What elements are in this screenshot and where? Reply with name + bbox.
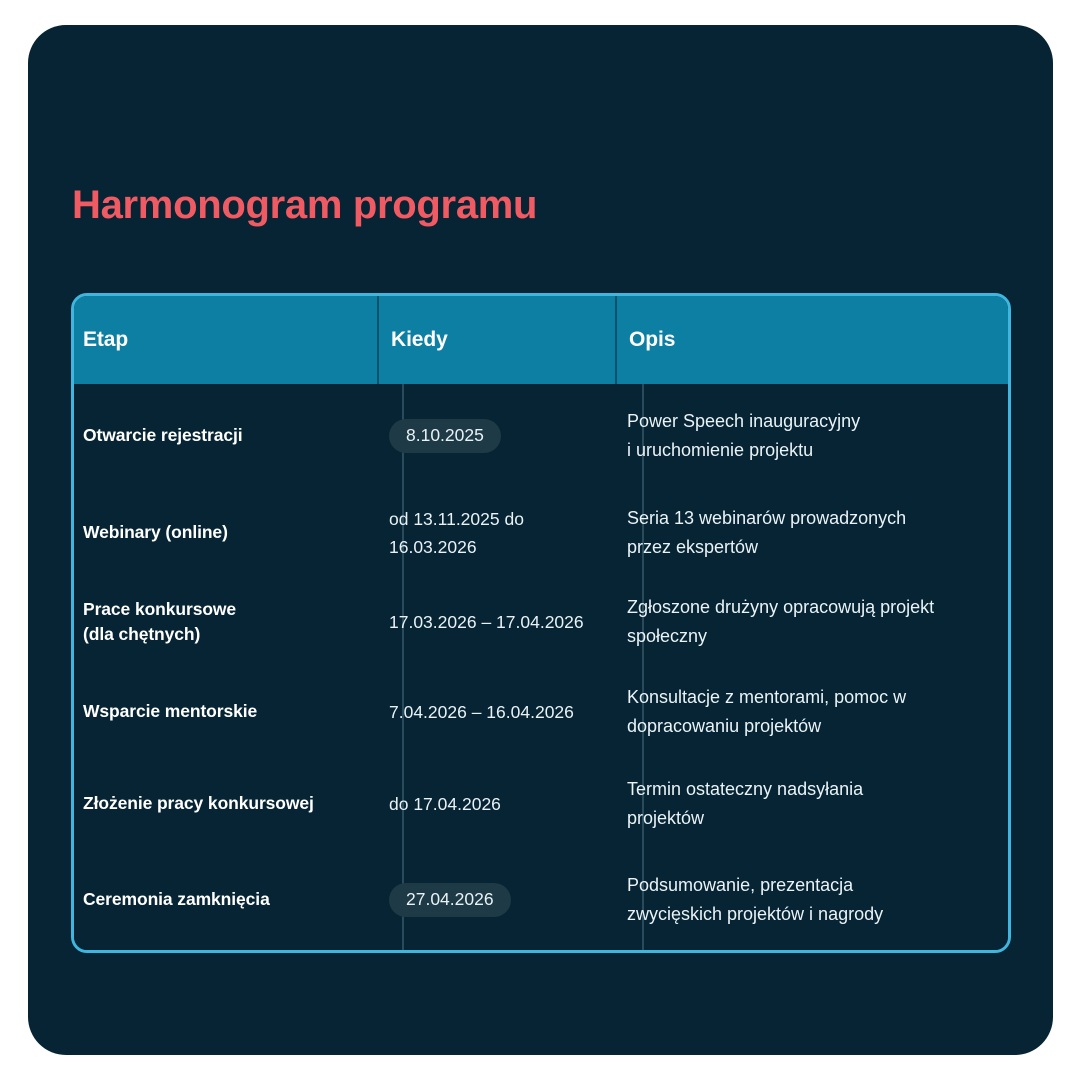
page-root: Harmonogram programu Etap Kiedy Opis Otw… [0,0,1080,1080]
table-row: Wsparcie mentorskie 7.04.2026 – 16.04.20… [74,666,1008,758]
description-line-2: projektów [627,804,863,833]
description-line-1: Podsumowanie, prezentacja [627,871,883,900]
date-pill: 27.04.2026 [389,883,511,917]
schedule-table: Etap Kiedy Opis Otwarcie rejestracji 8.1… [71,293,1011,953]
table-row: Otwarcie rejestracji 8.10.2025 Power Spe… [74,384,1008,488]
table-row: Prace konkursowe (dla chętnych) 17.03.20… [74,578,1008,666]
description-line-1: Termin ostateczny nadsyłania [627,775,863,804]
row-description: Zgłoszone drużyny opracowują projekt spo… [615,593,1008,651]
row-when-value: od 13.11.2025 do 16.03.2026 [377,505,615,562]
when-text: do 17.04.2026 [389,790,501,818]
stage-text: Wsparcie mentorskie [83,699,257,724]
row-stage-label: Otwarcie rejestracji [74,423,377,448]
row-when-value: 17.03.2026 – 17.04.2026 [377,608,615,636]
stage-text: Webinary (online) [83,520,228,545]
when-line-2: 16.03.2026 [389,533,524,561]
table-body: Otwarcie rejestracji 8.10.2025 Power Spe… [74,384,1008,950]
description-line-2: dopracowaniu projektów [627,712,906,741]
column-header-description: Opis [615,296,1008,384]
stage-text-line-2: (dla chętnych) [83,622,236,647]
table-header-row: Etap Kiedy Opis [74,296,1008,384]
row-stage-label: Wsparcie mentorskie [74,699,377,724]
row-stage-label: Ceremonia zamknięcia [74,887,377,912]
row-description: Konsultacje z mentorami, pomoc w dopraco… [615,683,1008,741]
date-pill: 8.10.2025 [389,419,501,453]
row-when-value: 8.10.2025 [377,419,615,453]
row-when-value: 7.04.2026 – 16.04.2026 [377,698,615,726]
stage-text: Ceremonia zamknięcia [83,887,270,912]
description-line-1: Konsultacje z mentorami, pomoc w [627,683,906,712]
description-line-2: społeczny [627,622,934,651]
row-stage-label: Złożenie pracy konkursowej [74,791,377,816]
description-line-2: zwycięskich projektów i nagrody [627,900,883,929]
row-description: Termin ostateczny nadsyłania projektów [615,775,1008,833]
content-card: Harmonogram programu Etap Kiedy Opis Otw… [28,25,1053,1055]
row-when-value: 27.04.2026 [377,883,615,917]
description-line-1: Power Speech inauguracyjny [627,407,860,436]
page-title: Harmonogram programu [72,183,537,228]
row-description: Seria 13 webinarów prowadzonych przez ek… [615,504,1008,562]
column-header-stage: Etap [74,296,377,384]
description-line-1: Seria 13 webinarów prowadzonych [627,504,906,533]
column-header-when: Kiedy [377,296,615,384]
description-line-2: i uruchomienie projektu [627,436,860,465]
table-row: Złożenie pracy konkursowej do 17.04.2026… [74,758,1008,850]
when-text: 17.03.2026 – 17.04.2026 [389,608,584,636]
table-row: Webinary (online) od 13.11.2025 do 16.03… [74,488,1008,578]
table-row: Ceremonia zamknięcia 27.04.2026 Podsumow… [74,850,1008,950]
stage-text: Otwarcie rejestracji [83,423,242,448]
stage-text: Prace konkursowe [83,597,236,622]
description-line-2: przez ekspertów [627,533,906,562]
description-line-1: Zgłoszone drużyny opracowują projekt [627,593,934,622]
row-description: Podsumowanie, prezentacja zwycięskich pr… [615,871,1008,929]
row-stage-label: Webinary (online) [74,520,377,545]
row-when-value: do 17.04.2026 [377,790,615,818]
row-stage-label: Prace konkursowe (dla chętnych) [74,597,377,648]
when-line-1: od 13.11.2025 do [389,505,524,533]
when-text: 7.04.2026 – 16.04.2026 [389,698,574,726]
stage-text: Złożenie pracy konkursowej [83,791,314,816]
row-description: Power Speech inauguracyjny i uruchomieni… [615,407,1008,465]
